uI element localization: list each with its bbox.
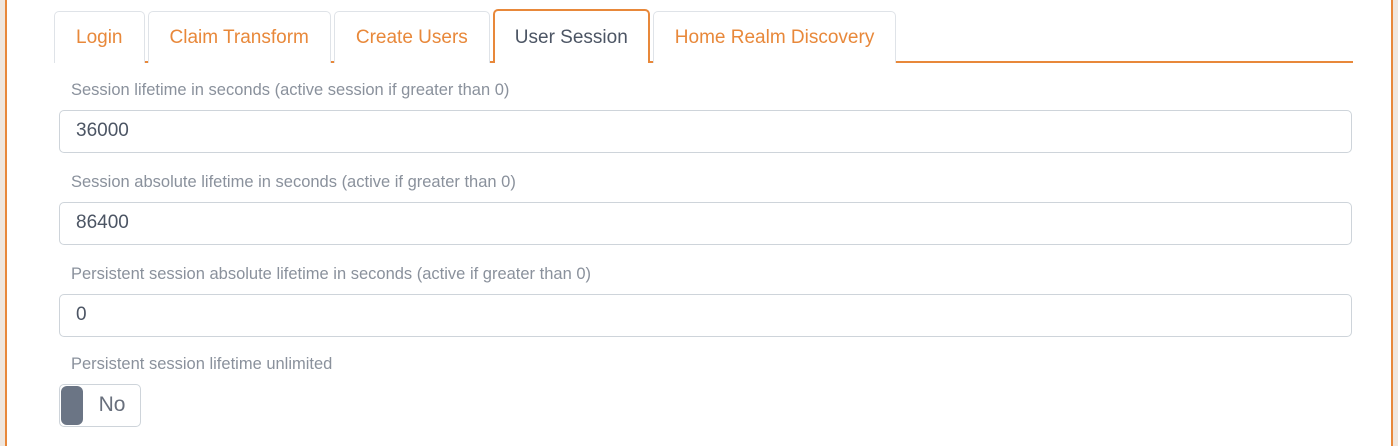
- persistent-session-absolute-lifetime-label: Persistent session absolute lifetime in …: [71, 265, 1352, 285]
- toggle-knob-icon: [61, 386, 83, 425]
- session-lifetime-label: Session lifetime in seconds (active sess…: [71, 81, 1352, 101]
- tab-navigation: Login Claim Transform Create Users User …: [54, 10, 1354, 63]
- user-session-form: Session lifetime in seconds (active sess…: [7, 63, 1391, 446]
- field-session-absolute-lifetime: Session absolute lifetime in seconds (ac…: [59, 173, 1352, 245]
- tab-home-realm-discovery[interactable]: Home Realm Discovery: [653, 11, 897, 63]
- page-content: Login Claim Transform Create Users User …: [7, 0, 1391, 446]
- session-absolute-lifetime-label: Session absolute lifetime in seconds (ac…: [71, 173, 1352, 193]
- persistent-session-lifetime-unlimited-toggle[interactable]: No: [59, 384, 141, 427]
- tab-create-users-label: Create Users: [356, 28, 468, 47]
- persistent-session-lifetime-unlimited-label: Persistent session lifetime unlimited: [71, 355, 1352, 375]
- tab-user-session[interactable]: User Session: [493, 9, 650, 63]
- page-frame: Login Claim Transform Create Users User …: [5, 0, 1393, 446]
- tab-login[interactable]: Login: [54, 11, 145, 63]
- tab-create-users[interactable]: Create Users: [334, 11, 490, 63]
- field-session-lifetime: Session lifetime in seconds (active sess…: [59, 81, 1352, 153]
- tab-login-label: Login: [76, 28, 123, 47]
- persistent-session-absolute-lifetime-input[interactable]: [59, 294, 1352, 337]
- tab-home-realm-discovery-label: Home Realm Discovery: [675, 28, 875, 47]
- tab-user-session-label: User Session: [515, 28, 628, 47]
- tab-claim-transform-label: Claim Transform: [170, 28, 309, 47]
- field-persistent-session-absolute-lifetime: Persistent session absolute lifetime in …: [59, 265, 1352, 337]
- tab-claim-transform[interactable]: Claim Transform: [148, 11, 331, 63]
- session-lifetime-input[interactable]: [59, 110, 1352, 153]
- field-persistent-session-lifetime-unlimited: Persistent session lifetime unlimited No: [59, 355, 1352, 432]
- toggle-state-label: No: [84, 385, 140, 426]
- session-absolute-lifetime-input[interactable]: [59, 202, 1352, 245]
